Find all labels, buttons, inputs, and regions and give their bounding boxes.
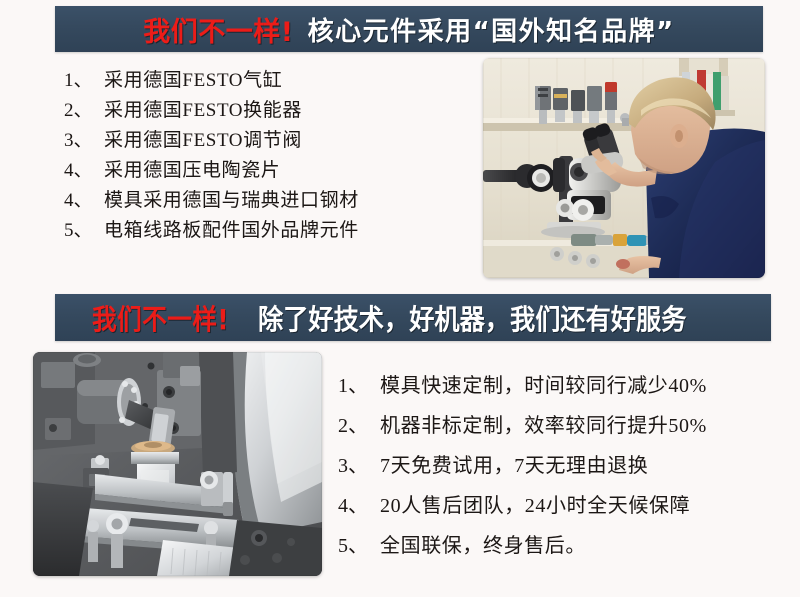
list-item: 3、 采用德国FESTO调节阀 [64,126,474,156]
list-item-number: 5、 [338,526,380,566]
list-item-number: 1、 [338,366,380,406]
list-item-number: 3、 [64,126,104,156]
section-top-banner: 我们不一样! 核心元件采用“国外知名品牌” [55,6,763,52]
machine-photo-artwork [33,352,322,576]
list-item-text: 20人售后团队，24小时全天候保障 [380,486,788,526]
list-item-text: 全国联保，终身售后。 [380,526,788,566]
list-item: 2、 采用德国FESTO换能器 [64,96,474,126]
list-item: 3、 7天免费试用，7天无理由退换 [338,446,788,486]
list-item-text: 电箱线路板配件国外品牌元件 [104,216,474,246]
list-item-text: 模具快速定制，时间较同行减少40% [380,366,788,406]
machine-tooling-photo [33,352,322,576]
list-item-number: 3、 [338,446,380,486]
list-item: 2、 机器非标定制，效率较同行提升50% [338,406,788,446]
list-item-text: 采用德国FESTO换能器 [104,96,474,126]
microscope-photo-artwork [483,58,765,278]
list-item-number: 1、 [64,66,104,96]
list-item: 4、 20人售后团队，24小时全天候保障 [338,486,788,526]
section-top-feature-list: 1、 采用德国FESTO气缸 2、 采用德国FESTO换能器 3、 采用德国FE… [64,66,474,246]
microscope-inspection-photo [483,58,765,278]
list-item-text: 采用德国FESTO气缸 [104,66,474,96]
marketing-page: 我们不一样! 核心元件采用“国外知名品牌” 1、 采用德国FESTO气缸 2、 … [0,0,800,597]
list-item-number: 2、 [338,406,380,446]
section-bottom-feature-list: 1、 模具快速定制，时间较同行减少40% 2、 机器非标定制，效率较同行提升50… [338,366,788,566]
list-item: 1、 模具快速定制，时间较同行减少40% [338,366,788,406]
section-bottom-banner: 我们不一样! 除了好技术，好机器，我们还有好服务 [55,294,771,341]
list-item: 4、 采用德国压电陶瓷片 [64,156,474,186]
list-item-text: 机器非标定制，效率较同行提升50% [380,406,788,446]
list-item: 1、 采用德国FESTO气缸 [64,66,474,96]
list-item-number: 2、 [64,96,104,126]
list-item: 4、 模具采用德国与瑞典进口钢材 [64,186,474,216]
list-item: 5、 电箱线路板配件国外品牌元件 [64,216,474,246]
list-item-number: 5、 [64,216,104,246]
list-item-text: 模具采用德国与瑞典进口钢材 [104,186,474,216]
list-item-number: 4、 [338,486,380,526]
banner-headline-text: 除了好技术，好机器，我们还有好服务 [258,298,686,338]
list-item: 5、 全国联保，终身售后。 [338,526,788,566]
list-item-text: 采用德国FESTO调节阀 [104,126,474,156]
banner-highlight-text: 我们不一样! [143,10,293,49]
list-item-text: 7天免费试用，7天无理由退换 [380,446,788,486]
list-item-text: 采用德国压电陶瓷片 [104,156,474,186]
list-item-number: 4、 [64,186,104,216]
banner-headline-text: 核心元件采用“国外知名品牌” [308,11,675,48]
banner-highlight-text: 我们不一样! [92,298,229,338]
list-item-number: 4、 [64,156,104,186]
